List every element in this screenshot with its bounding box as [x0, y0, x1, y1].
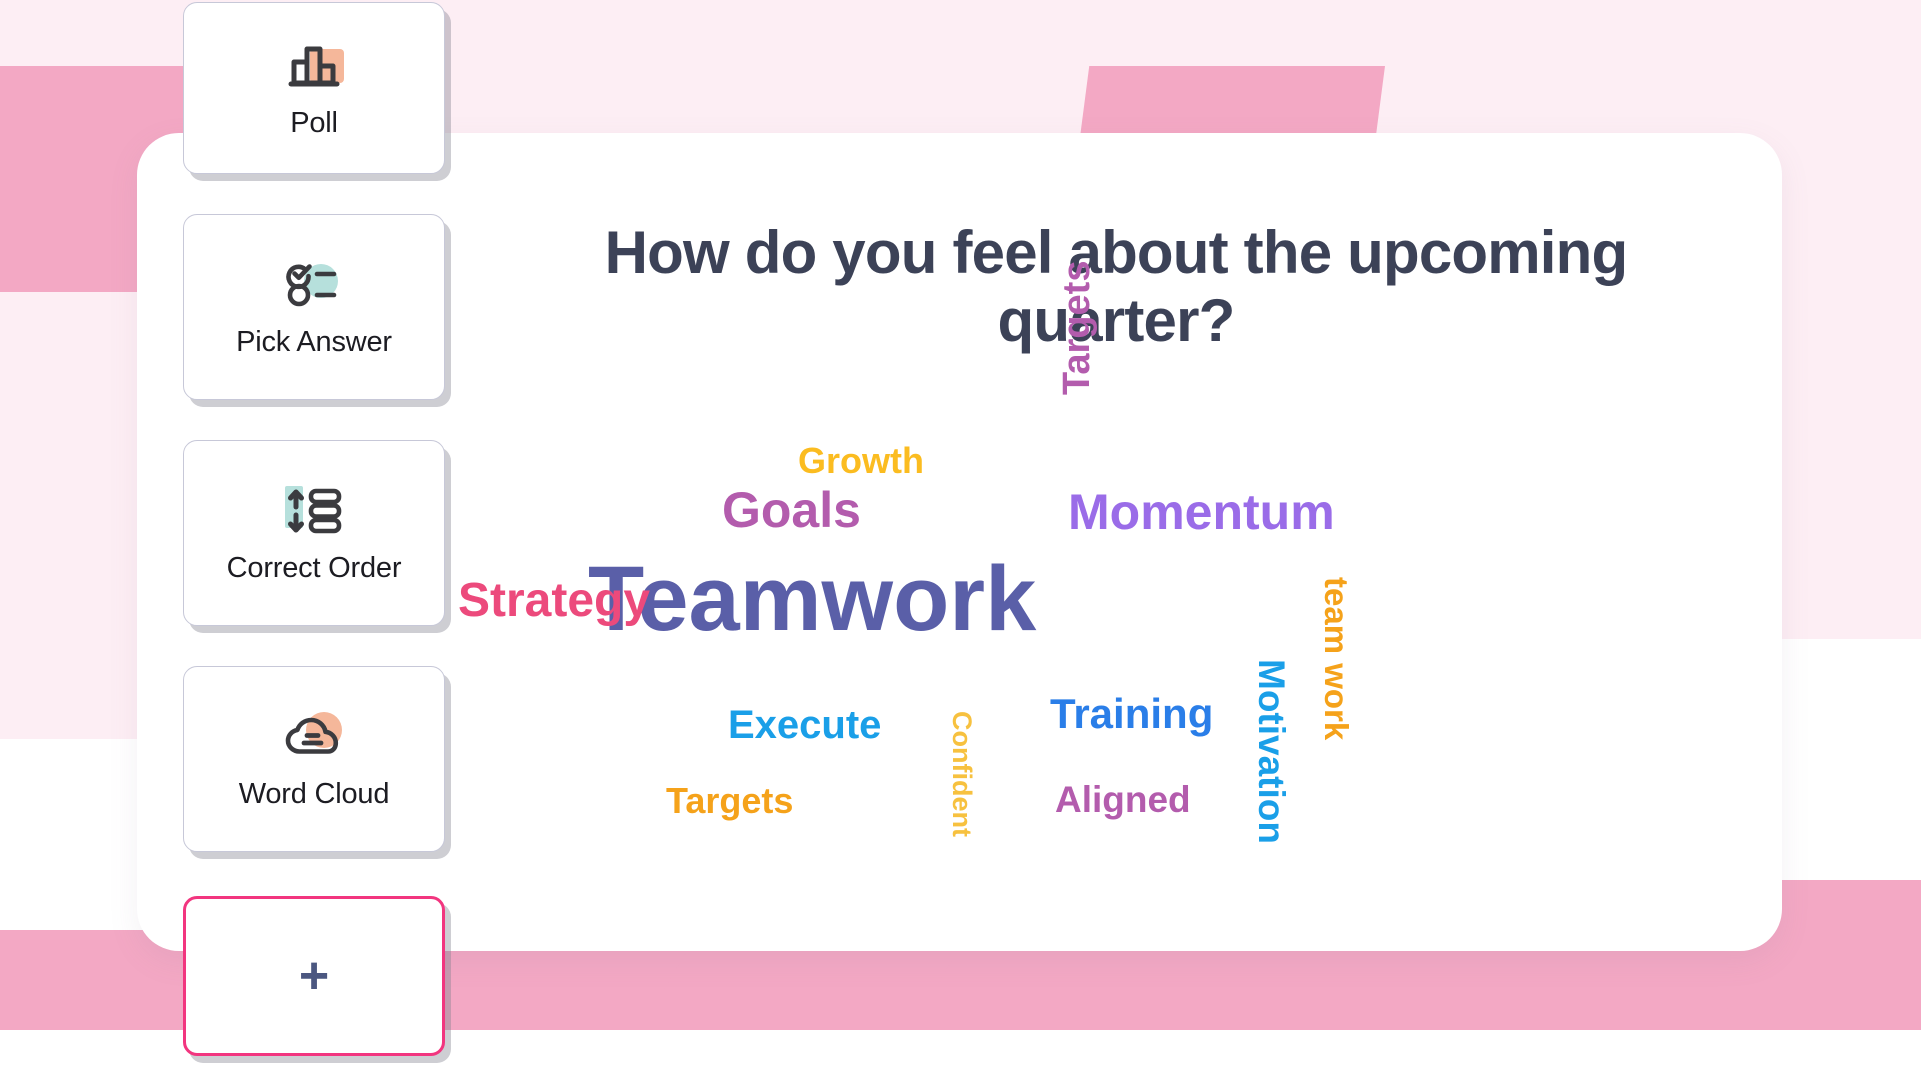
check-list-icon	[282, 256, 346, 314]
activity-type-sidebar: Poll Pick Answer	[183, 2, 445, 1056]
word-cloud-item: Confident	[948, 711, 975, 837]
sidebar-item-pick-answer[interactable]: Pick Answer	[183, 214, 445, 400]
add-activity-button[interactable]: +	[183, 896, 445, 1056]
reorder-icon	[282, 482, 346, 540]
bar-chart-icon	[282, 37, 346, 95]
word-cloud-item: Targets	[1058, 261, 1096, 395]
word-cloud-item: team work	[1320, 577, 1353, 740]
sidebar-item-label: Poll	[290, 107, 338, 140]
word-cloud-item: Aligned	[1055, 781, 1191, 818]
sidebar-item-label: Correct Order	[227, 552, 402, 585]
sidebar-item-label: Pick Answer	[236, 326, 392, 359]
word-cloud-item: Growth	[798, 443, 924, 479]
app-canvas: How do you feel about the upcoming quart…	[0, 0, 1921, 1080]
word-cloud-item: Execute	[728, 705, 881, 745]
sidebar-item-label: Word Cloud	[239, 778, 390, 811]
word-cloud-item: Targets	[666, 783, 793, 819]
word-cloud-item: Teamwork	[588, 553, 1036, 645]
sidebar-item-correct-order[interactable]: Correct Order	[183, 440, 445, 626]
word-cloud-item: Motivation	[1253, 659, 1290, 844]
page-title: How do you feel about the upcoming quart…	[450, 219, 1782, 356]
word-cloud-item: Training	[1050, 693, 1213, 735]
sidebar-item-word-cloud[interactable]: Word Cloud	[183, 666, 445, 852]
word-cloud-item: Momentum	[1068, 487, 1335, 537]
word-cloud-item: Strategy	[458, 577, 650, 625]
sidebar-item-poll[interactable]: Poll	[183, 2, 445, 174]
slide-content: How do you feel about the upcoming quart…	[450, 133, 1782, 951]
word-cloud-visualization: Teamwork Momentum Goals Strategy Trainin…	[450, 381, 1782, 901]
word-cloud-item: Goals	[722, 485, 861, 535]
word-cloud-icon	[282, 708, 346, 766]
plus-icon: +	[299, 950, 329, 1002]
